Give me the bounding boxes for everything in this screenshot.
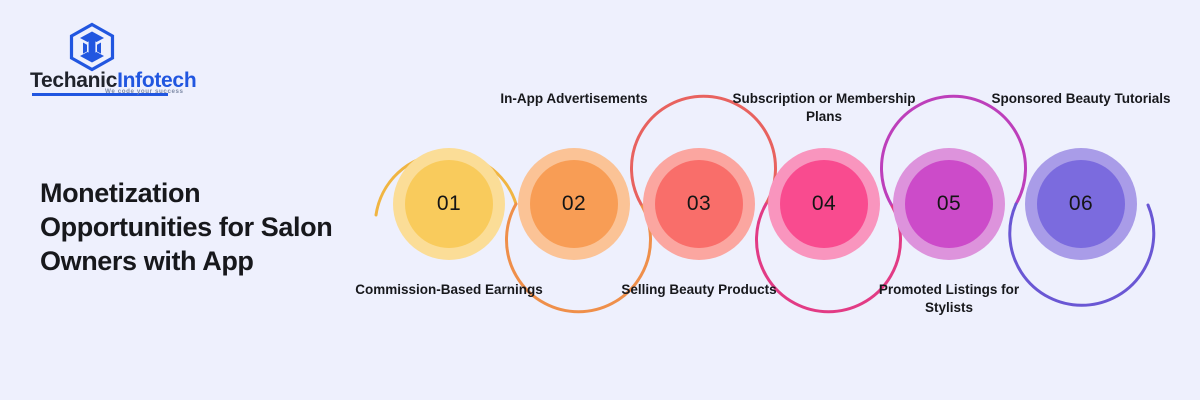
step-node-6[interactable]: 06 xyxy=(1025,148,1137,260)
step-caption-3: Selling Beauty Products xyxy=(604,281,794,299)
step-node-4[interactable]: 04 xyxy=(768,148,880,260)
steps-diagram: Commission-Based Earnings 01 In-App Adve… xyxy=(360,0,1200,400)
step-number-6: 06 xyxy=(1069,192,1093,216)
page-title: Monetization Opportunities for Salon Own… xyxy=(40,176,340,278)
step-node-3[interactable]: 03 xyxy=(643,148,755,260)
step-caption-2: In-App Advertisements xyxy=(479,90,669,108)
step-core-6: 06 xyxy=(1037,160,1125,248)
step-caption-4: Subscription or Membership Plans xyxy=(729,90,919,126)
infographic-canvas: TechanicInfotech We code your success Mo… xyxy=(0,0,1200,400)
step-number-3: 03 xyxy=(687,192,711,216)
hexagon-cube-logo-icon xyxy=(66,22,118,72)
step-core-1: 01 xyxy=(405,160,493,248)
step-caption-5: Promoted Listings for Stylists xyxy=(854,281,1044,317)
step-caption-1: Commission-Based Earnings xyxy=(354,281,544,299)
step-node-5[interactable]: 05 xyxy=(893,148,1005,260)
logo-tagline: We code your success xyxy=(105,88,184,95)
step-core-4: 04 xyxy=(780,160,868,248)
brand-logo: TechanicInfotech We code your success xyxy=(30,22,215,100)
step-number-5: 05 xyxy=(937,192,961,216)
step-number-2: 02 xyxy=(562,192,586,216)
step-caption-6: Sponsored Beauty Tutorials xyxy=(986,90,1176,108)
step-node-1[interactable]: 01 xyxy=(393,148,505,260)
step-core-3: 03 xyxy=(655,160,743,248)
step-number-1: 01 xyxy=(437,192,461,216)
step-number-4: 04 xyxy=(812,192,836,216)
step-core-5: 05 xyxy=(905,160,993,248)
step-node-2[interactable]: 02 xyxy=(518,148,630,260)
step-core-2: 02 xyxy=(530,160,618,248)
